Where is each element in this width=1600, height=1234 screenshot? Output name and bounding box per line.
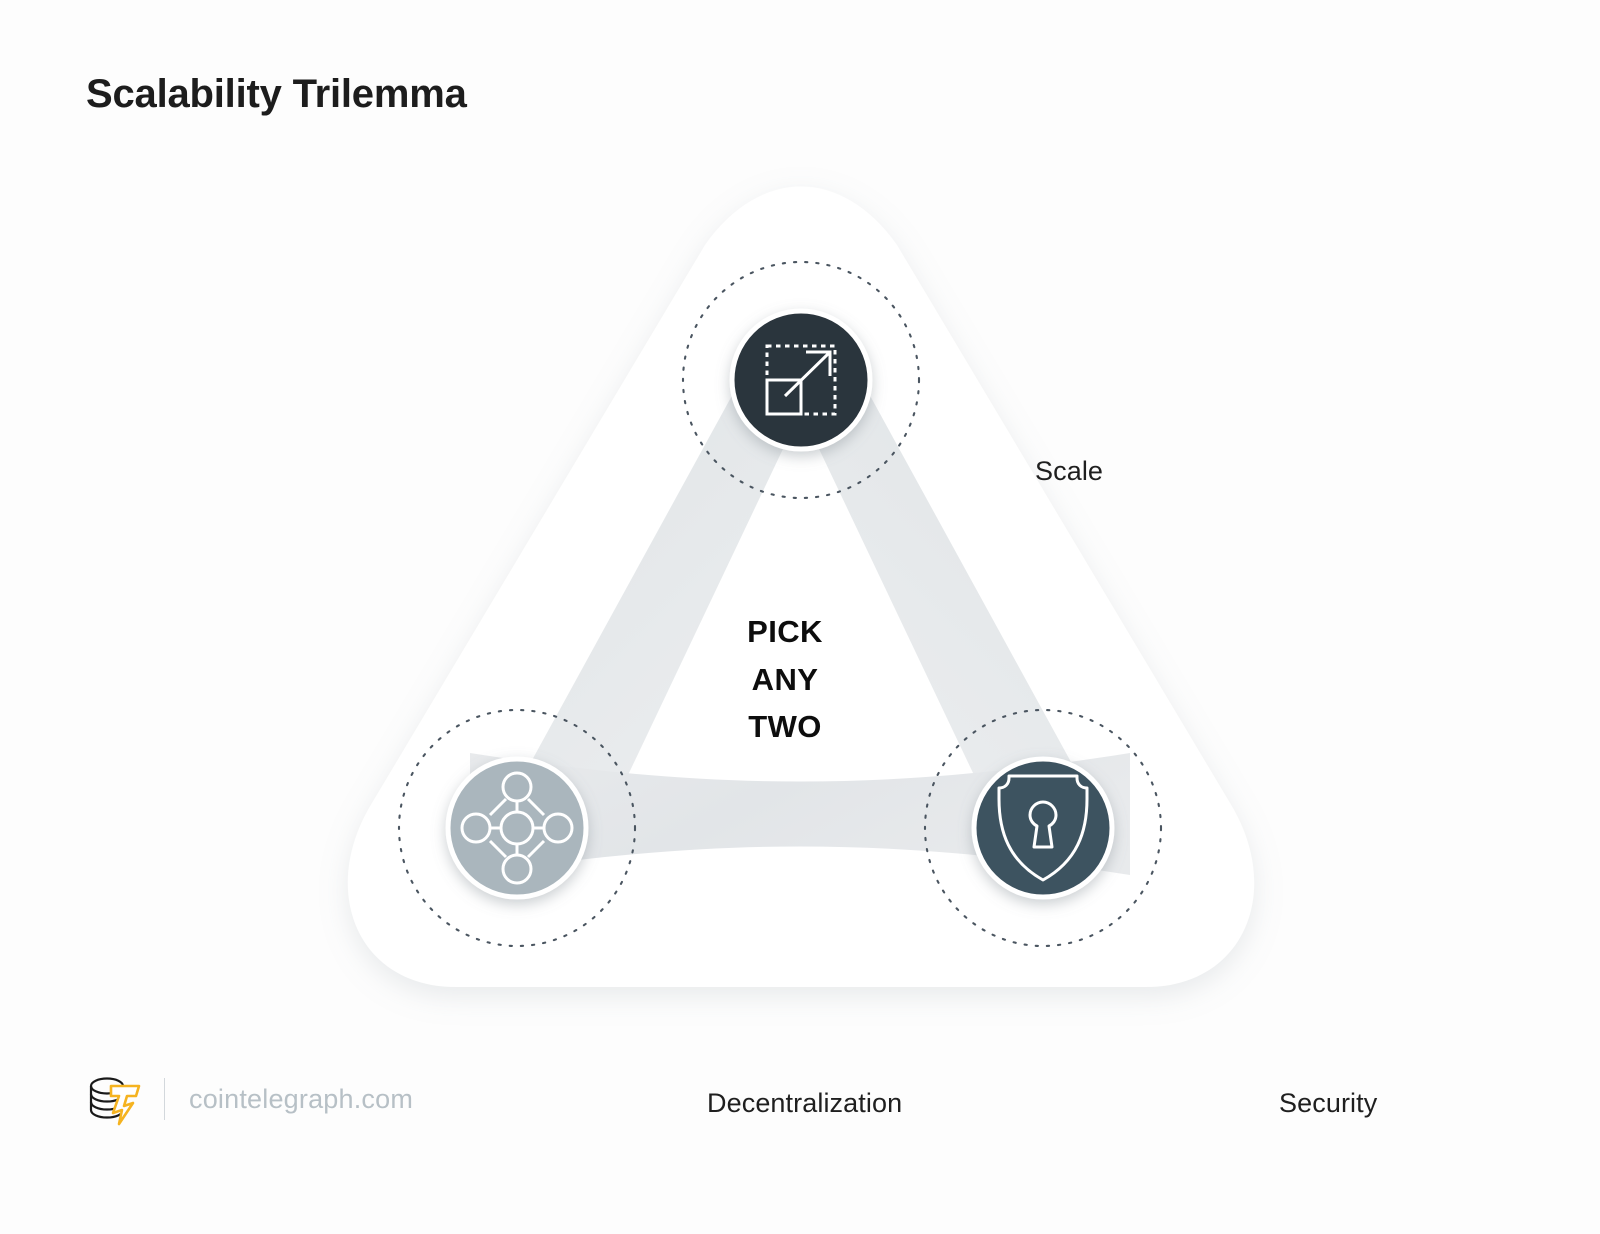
- cointelegraph-logo: [86, 1072, 144, 1126]
- center-line-2: ANY: [700, 656, 870, 704]
- center-line-3: TWO: [700, 703, 870, 751]
- node-security[interactable]: [974, 759, 1112, 897]
- footer-divider: [164, 1078, 165, 1120]
- center-callout: PICK ANY TWO: [700, 608, 870, 751]
- footer-site-label: cointelegraph.com: [189, 1084, 413, 1115]
- node-label-security: Security: [1279, 1088, 1377, 1119]
- node-label-decentralization: Decentralization: [707, 1088, 902, 1119]
- node-label-scale: Scale: [1035, 456, 1103, 487]
- infographic-canvas: Scalability Trilemma: [0, 0, 1600, 1234]
- node-security-circle: [974, 759, 1112, 897]
- page-title: Scalability Trilemma: [86, 72, 467, 117]
- center-line-1: PICK: [700, 608, 870, 656]
- footer: cointelegraph.com: [86, 1068, 413, 1130]
- node-decentralization[interactable]: [448, 759, 586, 897]
- node-scale[interactable]: [732, 311, 870, 449]
